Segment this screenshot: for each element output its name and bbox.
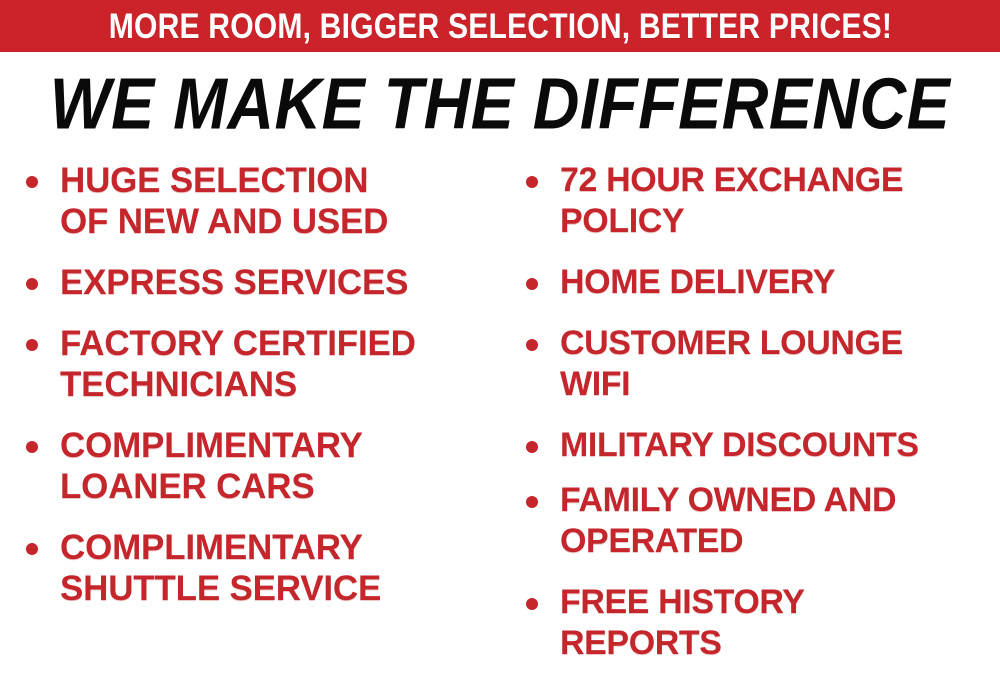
features-column-right: 72 HOUR EXCHANGE POLICY HOME DELIVERY CU…: [518, 160, 1000, 694]
list-item: FREE HISTORY REPORTS: [518, 582, 1000, 664]
features-column-left: HUGE SELECTION OF NEW AND USED EXPRESS S…: [18, 160, 508, 694]
banner-divider: [0, 52, 1000, 55]
features-columns: HUGE SELECTION OF NEW AND USED EXPRESS S…: [0, 160, 1000, 694]
list-item: COMPLIMENTARY SHUTTLE SERVICE: [18, 527, 508, 609]
list-item: HUGE SELECTION OF NEW AND USED: [18, 160, 508, 242]
page-title: WE MAKE THE DIFFERENCE: [50, 68, 951, 140]
top-banner: MORE ROOM, BIGGER SELECTION, BETTER PRIC…: [0, 0, 1000, 52]
list-item: CUSTOMER LOUNGE WIFI: [518, 323, 1000, 405]
list-item: FAMILY OWNED AND OPERATED: [518, 480, 1000, 562]
banner-headline-text: MORE ROOM, BIGGER SELECTION, BETTER PRIC…: [108, 9, 891, 44]
list-item: 72 HOUR EXCHANGE POLICY: [518, 160, 1000, 242]
list-item: MILITARY DISCOUNTS: [518, 425, 1000, 466]
list-item: FACTORY CERTIFIED TECHNICIANS: [18, 323, 508, 405]
headline-container: WE MAKE THE DIFFERENCE: [0, 68, 1000, 140]
list-item: COMPLIMENTARY LOANER CARS: [18, 425, 508, 507]
list-item: EXPRESS SERVICES: [18, 262, 508, 303]
list-item: HOME DELIVERY: [518, 262, 1000, 303]
promotional-poster: MORE ROOM, BIGGER SELECTION, BETTER PRIC…: [0, 0, 1000, 694]
